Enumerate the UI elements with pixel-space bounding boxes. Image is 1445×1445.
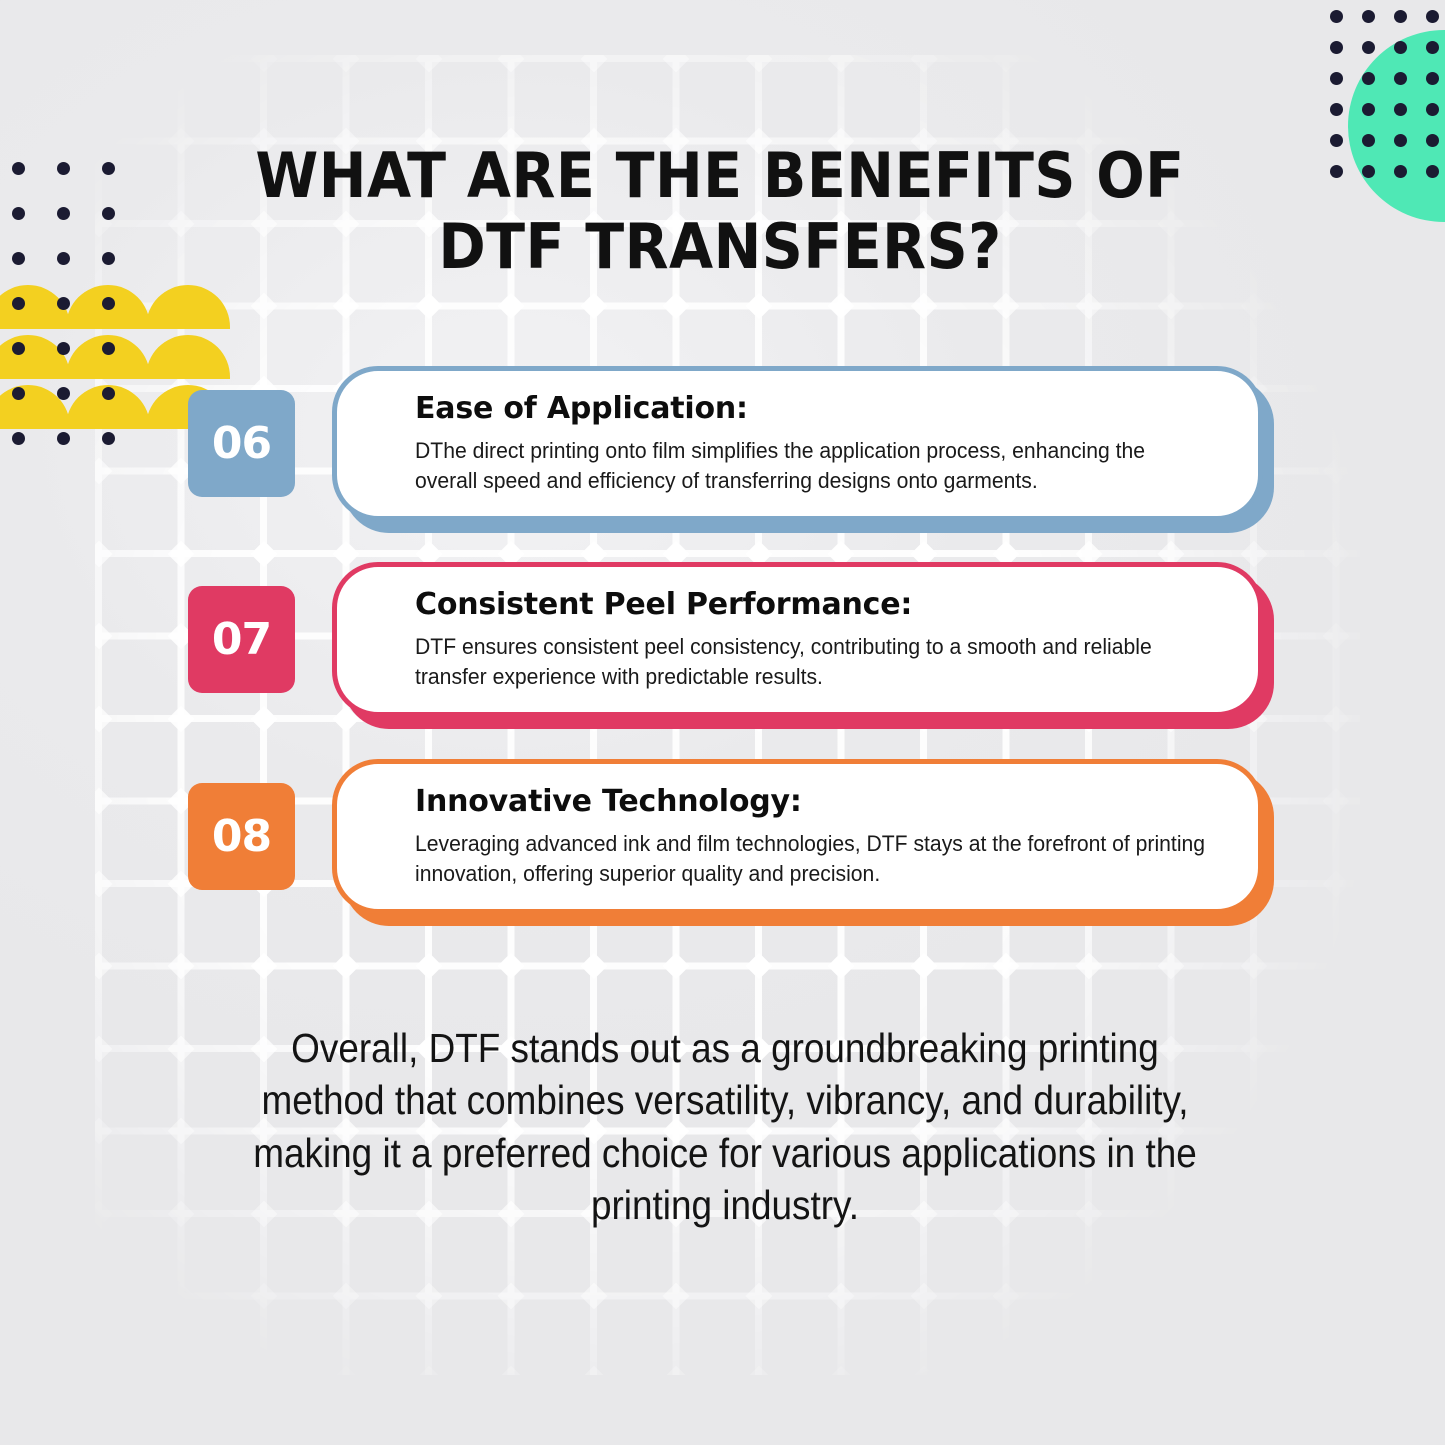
badge-number-label: 07 xyxy=(212,614,271,665)
benefit-title-07: Consistent Peel Performance: xyxy=(415,587,1214,622)
badge-number-label: 06 xyxy=(212,418,271,469)
benefit-card-08[interactable]: Innovative Technology: Leveraging advanc… xyxy=(332,759,1263,914)
benefit-card-wrap-08: Innovative Technology: Leveraging advanc… xyxy=(332,759,1263,914)
benefit-body-08: Leveraging advanced ink and film technol… xyxy=(415,829,1211,890)
benefit-body-06: DThe direct printing onto film simplifie… xyxy=(415,436,1211,497)
benefit-title-08: Innovative Technology: xyxy=(415,784,1214,819)
benefit-body-07: DTF ensures consistent peel consistency,… xyxy=(415,632,1211,693)
benefit-number-badge-08: 08 xyxy=(188,783,295,890)
benefit-row-08: 08 Innovative Technology: Leveraging adv… xyxy=(188,759,1263,914)
benefit-card-07[interactable]: Consistent Peel Performance: DTF ensures… xyxy=(332,562,1263,717)
page-title: WHAT ARE THE BENEFITS OF DTF TRANSFERS? xyxy=(214,140,1226,283)
benefit-number-badge-07: 07 xyxy=(188,586,295,693)
infographic-poster: WHAT ARE THE BENEFITS OF DTF TRANSFERS? … xyxy=(0,0,1445,1445)
summary-paragraph: Overall, DTF stands out as a groundbreak… xyxy=(230,1022,1220,1232)
badge-number-label: 08 xyxy=(212,811,271,862)
benefit-row-07: 07 Consistent Peel Performance: DTF ensu… xyxy=(188,562,1263,717)
benefit-card-wrap-07: Consistent Peel Performance: DTF ensures… xyxy=(332,562,1263,717)
benefit-card-wrap-06: Ease of Application: DThe direct printin… xyxy=(332,366,1263,521)
benefit-number-badge-06: 06 xyxy=(188,390,295,497)
benefit-card-06[interactable]: Ease of Application: DThe direct printin… xyxy=(332,366,1263,521)
benefit-title-06: Ease of Application: xyxy=(415,391,1214,426)
benefit-row-06: 06 Ease of Application: DThe direct prin… xyxy=(188,366,1263,521)
